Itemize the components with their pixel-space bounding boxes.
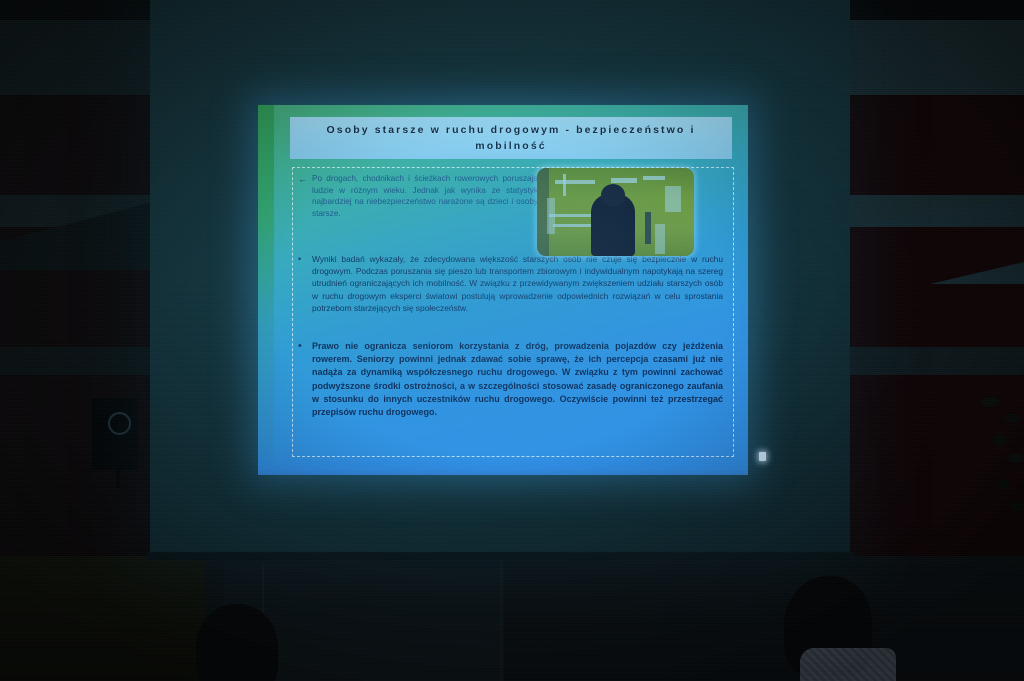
bullet-arrow-icon: ← [298,173,312,219]
plant-icon [960,392,1024,542]
slide-bullet-2-text: Wyniki badań wykazały, że zdecydowana wi… [312,253,723,314]
presenter-cursor-dot [759,452,766,461]
slide-title-bar: Osoby starsze w ruchu drogowym - bezpiec… [290,117,732,159]
slide-bullet-2: • Wyniki badań wykazały, że zdecydowana … [298,253,723,314]
lower-wall-left-panel [0,556,205,681]
presentation-slide: Osoby starsze w ruchu drogowym - bezpiec… [258,105,748,475]
audience-member-right-shirt [800,648,896,681]
audience-member-left [196,604,278,681]
wall-seam-2 [500,560,502,681]
slide-bullet-3: • Prawo nie ogranicza seniorom korzystan… [298,340,723,419]
slide-bullet-1: ← Po drogach, chodnikach i ścieżkach row… [298,173,538,219]
wall-speaker-ring-icon [108,412,131,435]
slide-title: Osoby starsze w ruchu drogowym - bezpiec… [296,122,726,154]
photo-scene: Osoby starsze w ruchu drogowym - bezpiec… [0,0,1024,681]
bullet-dot-icon: • [298,253,312,314]
wall-speaker-stem [116,440,120,488]
slide-bullet-3-text: Prawo nie ogranicza seniorom korzystania… [312,340,723,419]
photo-person-head [601,184,625,206]
slide-bullet-1-text: Po drogach, chodnikach i ścieżkach rower… [312,173,538,219]
projection-screen-bottom-bar [148,552,854,560]
slide-left-accent-band [258,105,274,475]
slide-photo [537,168,694,256]
bullet-dot-icon-2: • [298,340,312,419]
